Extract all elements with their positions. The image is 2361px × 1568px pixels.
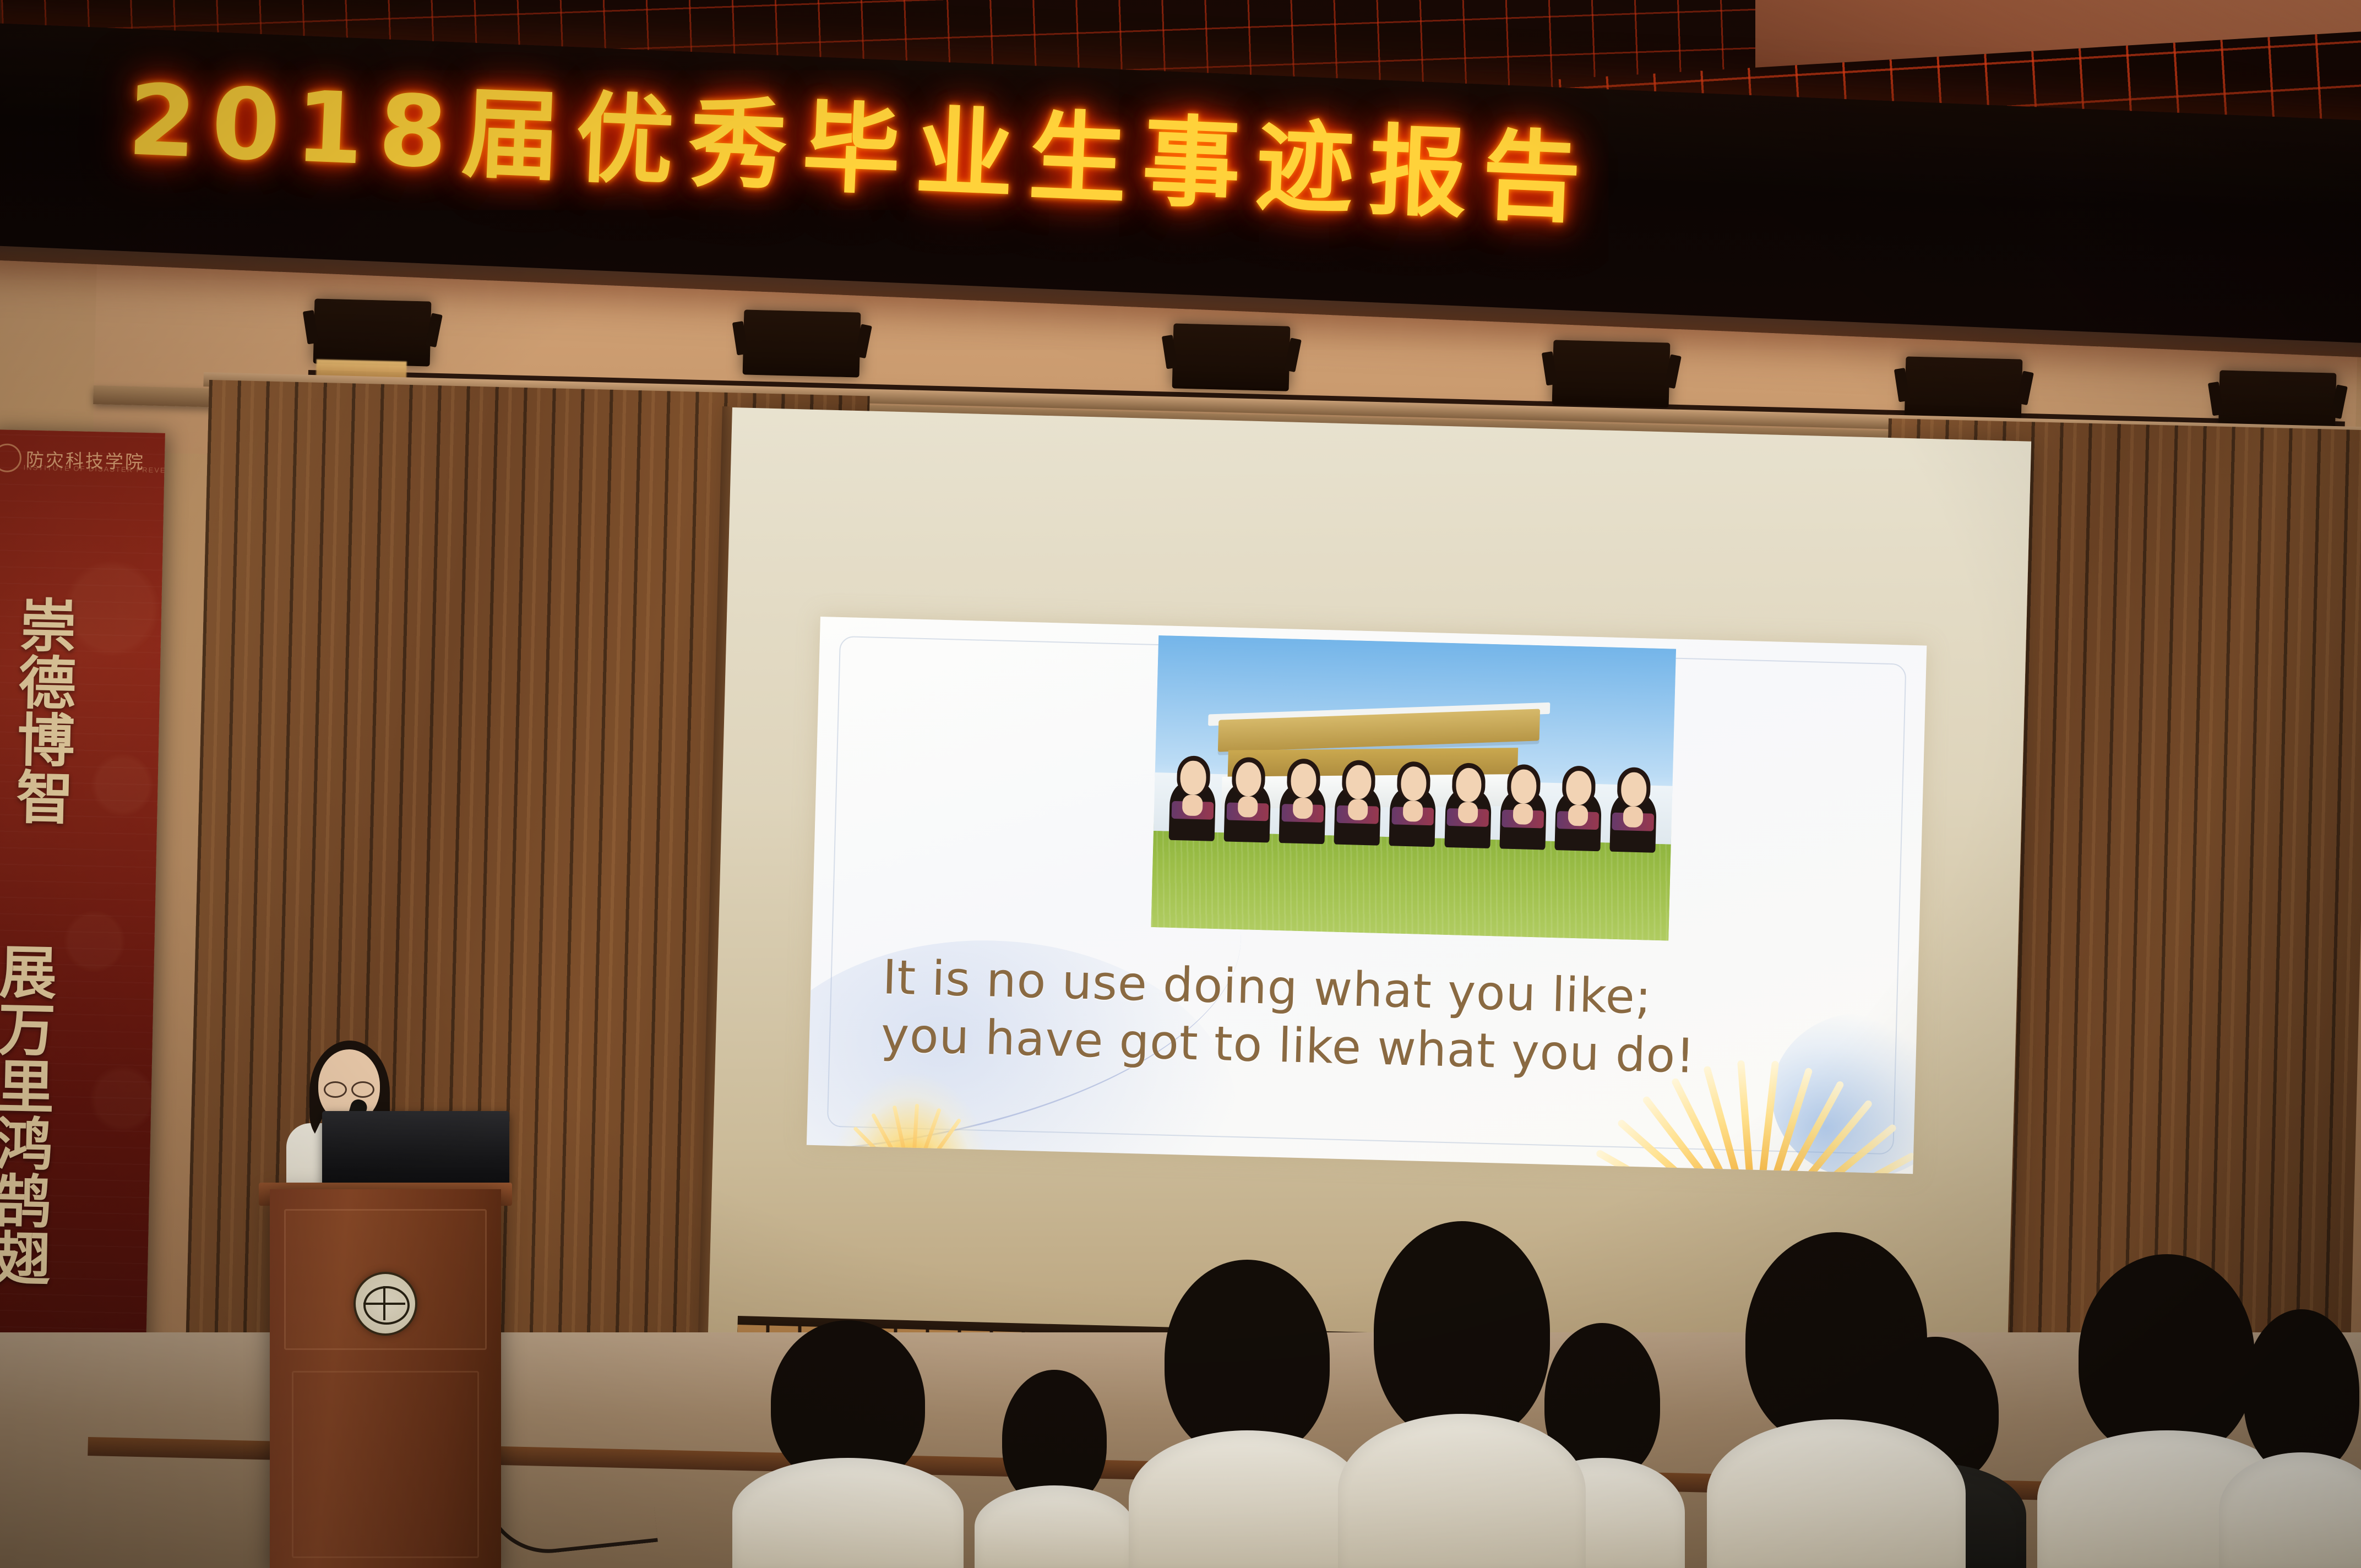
photo-graduate: [1444, 765, 1492, 848]
slide-graduation-photo: [1151, 635, 1676, 940]
photo-graduate: [1499, 767, 1547, 850]
stage-spotlight: [1905, 356, 2023, 424]
stage-spotlight: [1172, 323, 1291, 391]
institution-vertical-banner: 防灾科技学院 INSTITUTE OF DISASTER PREVENTION …: [0, 429, 165, 1413]
presentation-slide: It is no use doing what you like; you ha…: [807, 617, 1927, 1174]
photo-graduate: [1334, 763, 1382, 846]
photo-graduate: [1389, 764, 1437, 847]
institution-logo: 防灾科技学院 INSTITUTE OF DISASTER PREVENTION: [0, 438, 159, 480]
photo-graduate: [1169, 758, 1217, 841]
stage-spotlight: [1552, 340, 1671, 407]
audience-member: [732, 1337, 964, 1568]
audience-member: [975, 1386, 1134, 1568]
slide-flower-large-icon: [1542, 977, 1927, 1174]
audience-member: [2219, 1309, 2361, 1568]
podium-globe-emblem-icon: [353, 1272, 417, 1336]
audience-member: [1707, 1238, 1966, 1568]
stage-spotlight: [313, 298, 432, 366]
audience-member: [1338, 1227, 1586, 1568]
slide-flower-blue-accent: [1770, 1011, 1927, 1174]
photo-graduates-row: [1169, 758, 1657, 852]
photo-graduate: [1609, 770, 1657, 853]
photo-graduate: [1554, 769, 1602, 852]
speaker-podium: [270, 1189, 501, 1568]
institution-seal-icon: [0, 443, 21, 472]
photo-graduate: [1279, 761, 1327, 845]
banner-motto-line-2: 展万里鸿鹄翅: [0, 941, 54, 1287]
photo-graduate: [1224, 760, 1272, 843]
banner-motto-line-1: 崇德博智: [0, 595, 75, 826]
audience-member: [1129, 1271, 1366, 1568]
stage-spotlight: [743, 309, 861, 377]
podium-lower-panel: [292, 1371, 479, 1558]
podium-laptop[interactable]: [322, 1111, 509, 1189]
speaker-glasses-icon: [324, 1081, 374, 1095]
auditorium-scene: 2018届优秀毕业生事迹报告: [0, 0, 2361, 1568]
